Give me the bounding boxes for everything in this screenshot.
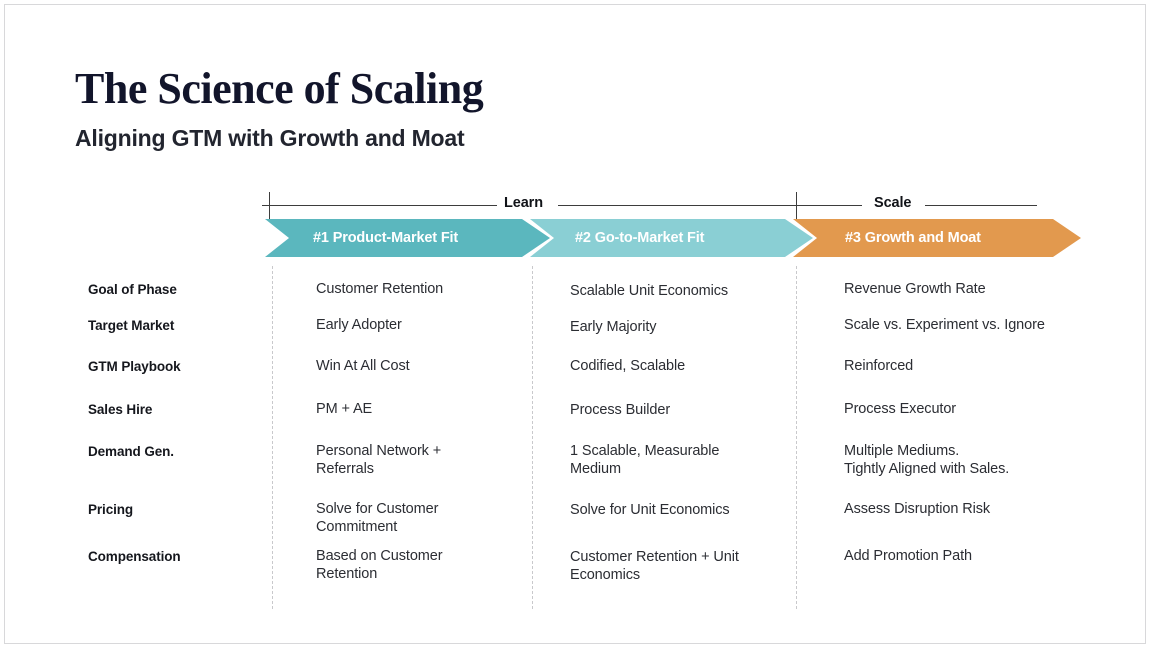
axis-rule-scale-right [925,205,1037,206]
cell-c1-r4: PM + AE [316,400,372,418]
cell-c2-r4: Process Builder [570,401,670,419]
phase-chevron-2-label: #2 Go-to-Market Fit [575,230,704,246]
cell-c2-r1: Scalable Unit Economics [570,282,728,300]
cell-c2-r3: Codified, Scalable [570,357,685,375]
cell-c1-r6: Solve for Customer Commitment [316,500,438,536]
phase-matrix: Goal of Phase Target Market GTM Playbook… [5,257,1146,617]
row-label-compensation: Compensation [88,549,181,564]
phase-chevron-3-label: #3 Growth and Moat [845,230,981,246]
cell-c1-r2: Early Adopter [316,316,402,334]
axis-rule-learn-left [262,205,497,206]
cell-c3-r2: Scale vs. Experiment vs. Ignore [844,316,1045,334]
phase-chevron-1[interactable]: #1 Product-Market Fit [265,219,550,257]
cell-c2-r6: Solve for Unit Economics [570,501,730,519]
row-label-gtm-playbook: GTM Playbook [88,359,181,374]
column-divider-2 [532,266,533,609]
row-label-goal-of-phase: Goal of Phase [88,282,177,297]
cell-c1-r3: Win At All Cost [316,357,410,375]
axis-label-scale: Scale [874,195,911,211]
row-label-pricing: Pricing [88,502,133,517]
cell-c3-r5: Multiple Mediums. Tightly Aligned with S… [844,442,1009,478]
phase-band: #1 Product-Market Fit #2 Go-to-Market Fi… [5,219,1146,257]
cell-c3-r4: Process Executor [844,400,956,418]
row-label-sales-hire: Sales Hire [88,402,152,417]
axis-label-learn: Learn [504,195,543,211]
phase-chevron-2[interactable]: #2 Go-to-Market Fit [530,219,813,257]
cell-c2-r5: 1 Scalable, Measurable Medium [570,442,719,478]
phase-axis: Learn Scale [5,191,1146,221]
phase-chevron-3[interactable]: #3 Growth and Moat [793,219,1081,257]
cell-c1-r5: Personal Network + Referrals [316,442,441,478]
row-label-target-market: Target Market [88,318,174,333]
axis-rule-learn-right [558,205,797,206]
axis-rule-scale-left [796,205,862,206]
row-label-demand-gen: Demand Gen. [88,444,174,459]
slide-canvas: The Science of Scaling Aligning GTM with… [4,4,1146,644]
cell-c3-r1: Revenue Growth Rate [844,280,986,298]
phase-chevron-1-label: #1 Product-Market Fit [313,230,458,246]
cell-c1-r7: Based on Customer Retention [316,547,442,583]
cell-c3-r7: Add Promotion Path [844,547,972,565]
page-subtitle: Aligning GTM with Growth and Moat [75,123,464,153]
cell-c1-r1: Customer Retention [316,280,443,298]
column-divider-3 [796,266,797,609]
cell-c2-r2: Early Majority [570,318,656,336]
cell-c2-r7: Customer Retention + Unit Economics [570,548,739,584]
column-divider-1 [272,266,273,609]
cell-c3-r6: Assess Disruption Risk [844,500,990,518]
page-title: The Science of Scaling [75,63,483,115]
cell-c3-r3: Reinforced [844,357,913,375]
